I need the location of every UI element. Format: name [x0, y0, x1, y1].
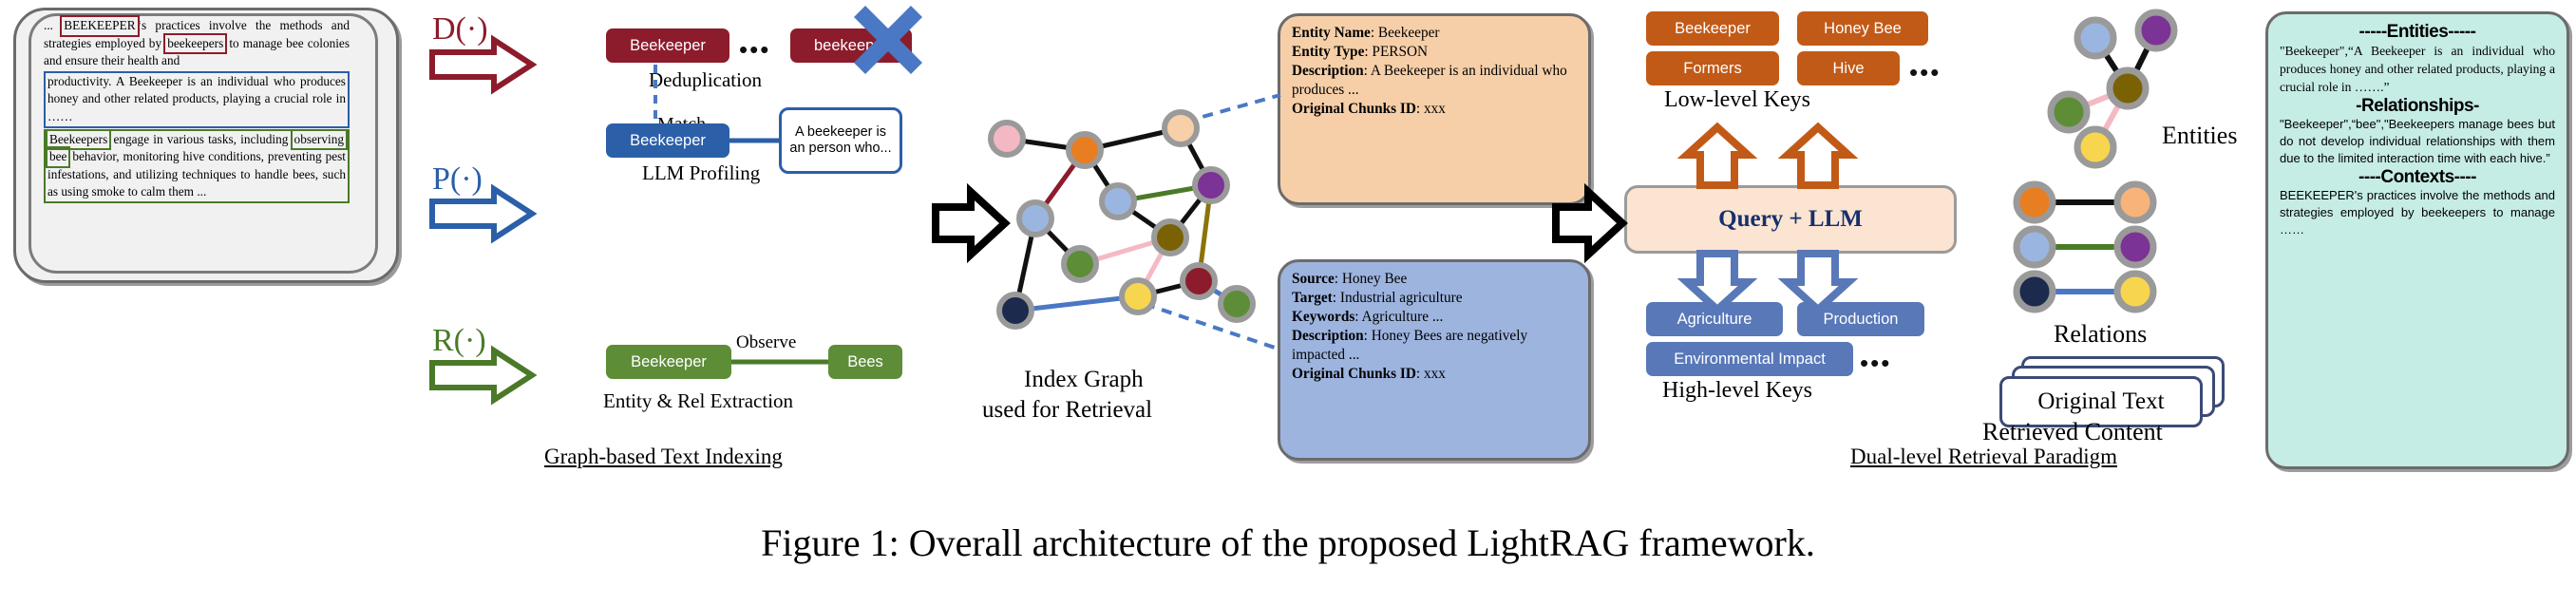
graph-node-n11[interactable] [999, 294, 1032, 327]
relation-description-row: Description: Honey Bees are negatively i… [1292, 327, 1577, 365]
graph-node-n10[interactable] [1122, 280, 1154, 312]
graph-indexing-stage-title: Graph-based Text Indexing [544, 445, 783, 469]
graph-node-n12[interactable] [1221, 288, 1253, 320]
graph-node-n1[interactable] [991, 123, 1023, 155]
relation-target-key: Target [1292, 290, 1333, 306]
graph-node-n2[interactable] [1069, 134, 1101, 166]
low-level-key-0[interactable]: Beekeeper [1646, 11, 1779, 46]
highlight-beekeeper-caps: BEEKEEPER [62, 17, 137, 35]
entity-chunks-key: Original Chunks ID [1292, 101, 1416, 117]
relation-left-node-1[interactable] [2017, 229, 2053, 265]
index-graph-nodes [991, 112, 1253, 327]
low-level-keys-arrow-left [1687, 127, 1748, 185]
highlight-blue-block: productivity. A Beekeeper is an individu… [44, 71, 350, 128]
entity-name-key: Entity Name [1292, 25, 1371, 41]
low-level-keys-ellipsis: ••• [1909, 60, 1941, 85]
low-level-key-2[interactable]: Formers [1646, 51, 1779, 85]
graph-node-n8[interactable] [1154, 221, 1186, 254]
entity-info-card: Entity Name: Beekeeper Entity Type: PERS… [1278, 13, 1591, 205]
high-level-keys-label: High-level Keys [1662, 378, 1812, 404]
operator-profile-label: P(·) [432, 161, 483, 198]
result-relationships-body: "Beekeeper",“bee","Beekeepers manage bee… [2280, 116, 2555, 167]
entity-chunks-value: xxx [1420, 101, 1446, 117]
query-llm-box[interactable]: Query + LLM [1624, 185, 1957, 254]
entity-type-row: Entity Type: PERSON [1292, 43, 1577, 62]
relation-source-value: Honey Bee [1338, 271, 1407, 287]
highlight-bee: bee [47, 148, 68, 166]
relations-mini-pairs [2017, 184, 2153, 310]
result-contexts-body: BEEKEEPER's practices involve the method… [2280, 187, 2555, 238]
relation-target-value: Industrial agriculture [1336, 290, 1463, 306]
entity-name-row: Entity Name: Beekeeper [1292, 24, 1577, 43]
llm-profiling-label: LLM Profiling [642, 161, 760, 185]
relation-right-node-1[interactable] [2117, 229, 2153, 265]
tag-beekeeper-kept[interactable]: Beekeeper [606, 28, 729, 63]
relation-observe-label: Observe [736, 332, 796, 353]
result-entities-body: "Beekeeper",“A Beekeeper is an individua… [2280, 42, 2555, 96]
result-contexts-header: ----Contexts---- [2280, 168, 2555, 186]
relation-right-node-0[interactable] [2117, 184, 2153, 220]
highlight-beekeepers-green: Beekeepers [47, 131, 109, 149]
tag-beekeeper-subject[interactable]: Beekeeper [606, 345, 731, 379]
index-graph-label-line2: used for Retrieval [982, 397, 1152, 424]
entity-callout-dashed [1185, 95, 1280, 122]
high-level-key-2[interactable]: Environmental Impact [1646, 342, 1853, 376]
relation-description-key: Description [1292, 328, 1364, 344]
entities-mini-label: Entities [2162, 122, 2237, 150]
doc-line-prefix: ... [44, 18, 62, 32]
retrieval-result-card: -----Entities----- "Beekeeper",“A Beekee… [2265, 11, 2569, 469]
graph-node-n4[interactable] [1102, 185, 1134, 218]
relation-right-node-2[interactable] [2117, 274, 2153, 310]
relation-callout-dashed [1145, 304, 1280, 350]
tag-beekeeper-removed[interactable]: beekeeper [790, 28, 912, 63]
relation-target-row: Target: Industrial agriculture [1292, 289, 1577, 308]
entity-chunks-row: Original Chunks ID: xxx [1292, 100, 1577, 119]
relation-source-key: Source [1292, 271, 1335, 287]
relation-keywords-value: Agriculture ... [1359, 309, 1444, 325]
entities-mini-graph-edges [2069, 30, 2156, 147]
operator-extract-label: R(·) [432, 323, 486, 359]
graph-node-n5[interactable] [1195, 169, 1227, 201]
source-document-text: ... BEEKEEPER‘s practices involve the me… [44, 17, 350, 262]
highlight-observing: observing [293, 131, 346, 149]
tag-bees-object[interactable]: Bees [828, 345, 902, 379]
entity-rel-extraction-label: Entity & Rel Extraction [603, 389, 793, 413]
entity-type-value: PERSON [1369, 44, 1428, 60]
entity-description-key: Description [1292, 63, 1364, 79]
low-level-keys-label: Low-level Keys [1664, 87, 1810, 113]
dedup-label: Deduplication [649, 68, 762, 92]
relations-mini-label: Relations [2054, 320, 2147, 349]
low-level-key-3[interactable]: Hive [1797, 51, 1900, 85]
highlight-green-block: Beekeepers engage in various tasks, incl… [44, 129, 350, 203]
relation-chunks-row: Original Chunks ID: xxx [1292, 365, 1577, 384]
low-level-key-1[interactable]: Honey Bee [1797, 11, 1928, 46]
dual-level-retrieval-stage-title: Dual-level Retrieval Paradigm [1850, 445, 2117, 469]
entity-name-value: Beekeeper [1374, 25, 1439, 41]
high-level-keys-ellipsis: ••• [1860, 350, 1891, 375]
relation-chunks-key: Original Chunks ID [1292, 366, 1416, 382]
highlight-beekeepers: beekeepers [165, 35, 225, 53]
relation-keywords-row: Keywords: Agriculture ... [1292, 308, 1577, 327]
entity-node-e5[interactable] [2077, 129, 2113, 165]
entity-description-row: Description: A Beekeeper is an individua… [1292, 62, 1577, 100]
tag-beekeeper-entity[interactable]: Beekeeper [606, 123, 729, 158]
green-mid-text: engage in various tasks, including [109, 132, 292, 146]
retrieved-content-label: Retrieved Content [1982, 418, 2163, 446]
green-tail-text: behavior, monitoring hive conditions, pr… [47, 149, 346, 199]
high-level-key-0[interactable]: Agriculture [1646, 302, 1783, 336]
flow-arrow-to-graph [936, 192, 1005, 255]
graph-node-n6[interactable] [1019, 202, 1051, 235]
relation-left-node-0[interactable] [2017, 184, 2053, 220]
entity-node-e2[interactable] [2138, 12, 2174, 48]
operator-dedup-label: D(·) [432, 11, 488, 47]
graph-node-n3[interactable] [1165, 112, 1197, 144]
index-graph-edges [1007, 128, 1237, 311]
entity-node-e3[interactable] [2110, 70, 2146, 106]
entity-type-key: Entity Type [1292, 44, 1364, 60]
high-level-key-1[interactable]: Production [1797, 302, 1924, 336]
profile-description-box: A beekeeper is an person who... [779, 107, 902, 174]
result-relationships-header: -Relationships- [2280, 97, 2555, 115]
result-entities-header: -----Entities----- [2280, 23, 2555, 41]
relation-info-card: Source: Honey Bee Target: Industrial agr… [1278, 259, 1591, 461]
graph-node-n9[interactable] [1183, 265, 1215, 297]
relation-keywords-key: Keywords [1292, 309, 1354, 325]
low-level-keys-arrow-right [1788, 127, 1848, 185]
relation-left-node-2[interactable] [2017, 274, 2053, 310]
figure-caption: Figure 1: Overall architecture of the pr… [0, 521, 2576, 565]
relation-source-row: Source: Honey Bee [1292, 270, 1577, 289]
graph-node-n7[interactable] [1064, 248, 1096, 280]
relation-chunks-value: xxx [1420, 366, 1446, 382]
index-graph-label-line1: Index Graph [1024, 367, 1144, 393]
dedup-ellipsis: ••• [739, 37, 770, 62]
entity-node-e1[interactable] [2077, 20, 2113, 56]
entities-mini-graph-nodes [2051, 12, 2174, 165]
entity-node-e4[interactable] [2051, 94, 2087, 130]
